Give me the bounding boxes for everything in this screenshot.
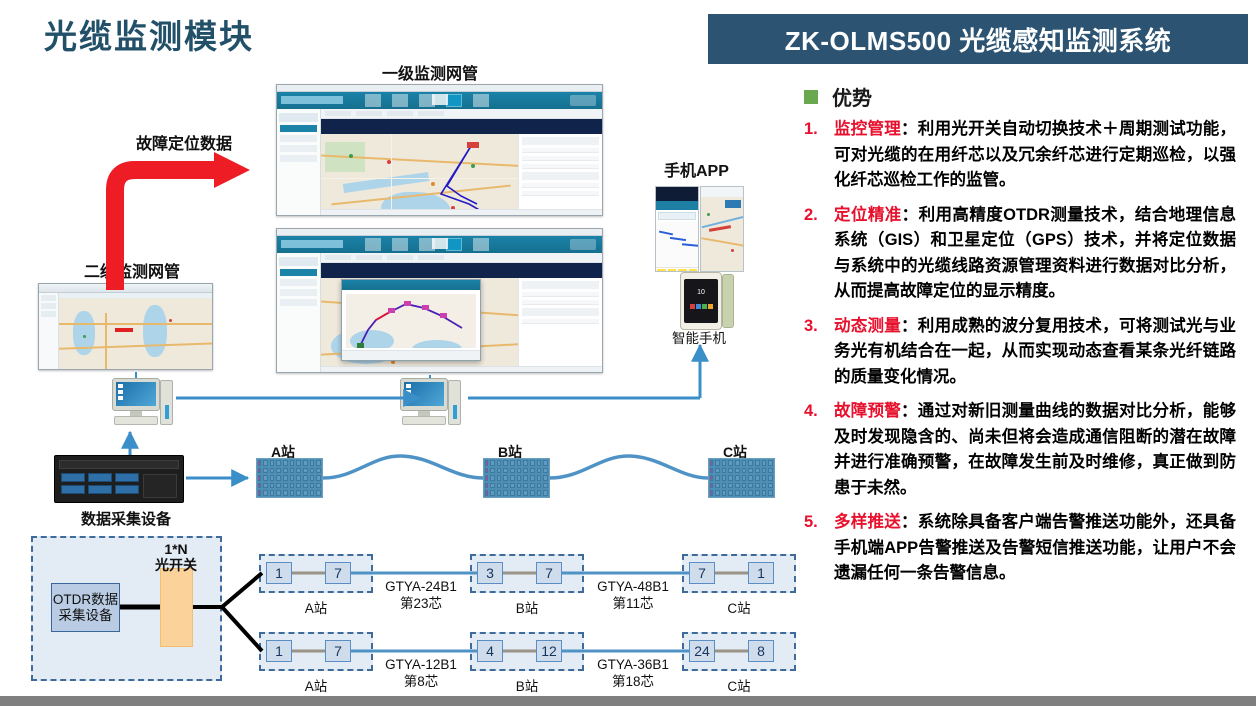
- collector-module: [88, 485, 112, 494]
- list-item-text: 监控管理：利用光开关自动切换技术＋周期测试功能，可对光缆的在用纤芯以及冗余纤芯进…: [834, 117, 1236, 194]
- phone-clock: 10: [684, 289, 718, 296]
- odf-row: [709, 474, 774, 482]
- dialog-title-bar[interactable]: [342, 280, 480, 290]
- desktop-icon: [118, 390, 123, 394]
- odf-row: [709, 489, 774, 497]
- app-nav-icons[interactable]: [365, 94, 489, 107]
- station-label: C站: [714, 675, 764, 695]
- app-topbar: [277, 92, 602, 109]
- odf-row: [484, 482, 549, 490]
- app-screenshot-header: [656, 187, 698, 201]
- optical-switch-box: [160, 568, 193, 647]
- fiber-port: 3: [477, 562, 503, 584]
- alarm-list-panel[interactable]: [518, 278, 602, 369]
- odf-rack-station-b: [483, 458, 550, 498]
- tower-led-strip: [453, 405, 457, 419]
- sidebar-item[interactable]: [280, 155, 317, 162]
- pc-tower: [448, 380, 461, 425]
- curve-segment: [682, 243, 698, 246]
- odf-rack-station-c: [708, 458, 775, 498]
- alarm-panel-header: [522, 137, 599, 145]
- dialog-route-overlay: [346, 294, 476, 348]
- label-data-collector: 数据采集设备: [81, 508, 171, 529]
- smartphone-device: 10: [680, 272, 722, 330]
- cable-core: 第18芯: [612, 674, 654, 689]
- cable-model: GTYA-24B1: [385, 579, 457, 594]
- desktop-icon: [118, 396, 123, 400]
- user-menu[interactable]: [570, 95, 596, 106]
- level2-sidebar[interactable]: [39, 293, 59, 369]
- odf-row: [257, 474, 322, 482]
- list-item-number: 5.: [804, 510, 834, 587]
- sidebar-item[interactable]: [280, 279, 317, 286]
- tab[interactable]: [325, 255, 351, 260]
- switch-label-line2: 光开关: [155, 557, 197, 573]
- cable-label-row1-seg2: GTYA-48B1 第11芯: [583, 578, 683, 612]
- level2-map[interactable]: [59, 293, 212, 369]
- list-item-keyword: 故障预警: [834, 402, 901, 420]
- map-fault-highlight: [709, 225, 731, 232]
- tab[interactable]: [387, 255, 413, 260]
- alarm-row[interactable]: [522, 183, 599, 188]
- alarm-row[interactable]: [522, 300, 599, 305]
- app-main: [321, 109, 602, 215]
- alarm-panel-subheader: [522, 308, 599, 316]
- station-label: B站: [502, 597, 552, 617]
- station-label: C站: [714, 597, 764, 617]
- list-item-text: 动态测量：利用成熟的波分复用技术，可将测试光与业务光有机结合在一起，从而实现动态…: [834, 314, 1236, 391]
- list-item-keyword: 多样推送: [834, 513, 901, 531]
- cable-core: 第11芯: [612, 596, 653, 611]
- alarm-panel-header: [522, 281, 599, 289]
- monitor-screen: [116, 382, 156, 406]
- tab[interactable]: [418, 255, 444, 260]
- keyboard: [402, 416, 446, 425]
- otdr-collector-label: OTDR数据 采集设备: [53, 592, 118, 624]
- odf-rack-station-a: [256, 458, 323, 498]
- list-item-keyword: 动态测量: [834, 317, 901, 335]
- smartphone-device-side: [722, 274, 734, 328]
- user-menu[interactable]: [570, 239, 596, 250]
- level2-nms-window[interactable]: [38, 283, 213, 370]
- desktop-icon: [406, 390, 411, 394]
- list-item-text: 故障预警：通过对新旧测量曲线的数据对比分析，能够及时发现隐含的、尚未但将会造成通…: [834, 399, 1236, 501]
- fiber-cable-a-b: [323, 456, 483, 478]
- app-tabs[interactable]: [321, 253, 602, 263]
- fiber-port: 1: [748, 562, 774, 584]
- status-bar: [321, 366, 602, 372]
- map-toggle-icon[interactable]: [432, 94, 448, 105]
- cable-core: 第8芯: [404, 674, 439, 689]
- alarm-row[interactable]: [522, 148, 599, 153]
- panel-title-bar: [321, 119, 602, 134]
- app-screenshot-statusbar: [701, 187, 743, 197]
- browser-toolbar[interactable]: [39, 284, 212, 293]
- otdr-label-line2: 采集设备: [59, 608, 113, 623]
- list-item-number: 4.: [804, 399, 834, 501]
- nav-icon-5[interactable]: [473, 238, 489, 251]
- cable-core: 第23芯: [400, 596, 442, 611]
- sidebar-item[interactable]: [41, 311, 56, 317]
- level1-workstation: [400, 378, 462, 430]
- dialog-map[interactable]: [346, 294, 476, 348]
- fiber-port: 7: [325, 640, 351, 662]
- fiber-port: 12: [536, 640, 562, 662]
- cable-model: GTYA-48B1: [597, 579, 669, 594]
- list-item: 4. 故障预警：通过对新旧测量曲线的数据对比分析，能够及时发现隐含的、尚未但将会…: [804, 399, 1240, 501]
- app-topbar: [277, 236, 602, 253]
- map-road: [59, 323, 212, 325]
- odf-row: [484, 459, 549, 467]
- cable-model: GTYA-36B1: [597, 657, 669, 672]
- sidebar-item-active[interactable]: [280, 125, 317, 132]
- keyboard: [114, 416, 158, 425]
- odf-row: [257, 467, 322, 475]
- nav-icon-2[interactable]: [392, 238, 408, 251]
- list-item-number: 3.: [804, 314, 834, 391]
- tab[interactable]: [356, 255, 382, 260]
- label-level1-nms: 一级监测网管: [382, 60, 478, 84]
- tab[interactable]: [418, 111, 444, 116]
- alarm-row[interactable]: [522, 191, 599, 196]
- app-icon: [708, 304, 713, 309]
- app-screenshot-search: [658, 212, 696, 220]
- bottom-bar: [0, 696, 1256, 706]
- list-item: 3. 动态测量：利用成熟的波分复用技术，可将测试光与业务光有机结合在一起，从而实…: [804, 314, 1240, 391]
- cable-label-row2-seg1: GTYA-12B1 第8芯: [371, 656, 471, 690]
- fiber-port: 7: [689, 562, 715, 584]
- map-fault-highlight: [115, 328, 133, 332]
- app-icon: [696, 304, 701, 309]
- odf-row: [709, 467, 774, 475]
- otdr-collector-box: OTDR数据 采集设备: [51, 583, 120, 632]
- monitor-screen: [404, 382, 444, 406]
- alarm-panel-subheader: [522, 172, 599, 180]
- tab[interactable]: [325, 111, 351, 116]
- label-mobile-app: 手机APP: [664, 157, 729, 181]
- otdr-label-line1: OTDR数据: [53, 592, 118, 607]
- label-smart-phone: 智能手机: [672, 327, 726, 347]
- alarm-row[interactable]: [522, 292, 599, 297]
- label-fault-location-data: 故障定位数据: [136, 130, 232, 154]
- advantages-heading: 优势: [804, 82, 1248, 111]
- advantages-list: 1. 监控管理：利用光开关自动切换技术＋周期测试功能，可对光缆的在用纤芯以及冗余…: [804, 117, 1240, 587]
- browser-chrome: [277, 85, 602, 92]
- page-title: 光缆监测模块: [44, 10, 254, 58]
- odf-row: [709, 482, 774, 490]
- alarm-row[interactable]: [522, 319, 599, 324]
- list-item-keyword: 定位精准: [834, 206, 902, 224]
- switch-label-line1: 1*N: [164, 541, 187, 557]
- browser-chrome: [277, 229, 602, 236]
- list-item-text: 多样推送：系统除具备客户端告警推送功能外，还具备手机端APP告警推送及告警短信推…: [834, 510, 1236, 587]
- curve-segment: [659, 231, 673, 236]
- collector-module: [115, 473, 139, 482]
- fault-detail-dialog[interactable]: [341, 279, 481, 361]
- desktop-icon: [406, 384, 411, 388]
- alarm-list-panel[interactable]: [518, 134, 602, 212]
- map-lake: [143, 305, 167, 357]
- level2-body: [39, 293, 212, 369]
- link-switch-branch-row1: [222, 573, 262, 607]
- map-legend-badge: [725, 200, 741, 208]
- odf-row: [257, 482, 322, 490]
- collector-modules: [61, 473, 141, 494]
- map-marker[interactable]: [83, 335, 86, 338]
- tab[interactable]: [356, 111, 382, 116]
- collector-module: [61, 473, 85, 482]
- desktop-icon: [118, 384, 123, 388]
- fiber-port: 1: [266, 562, 292, 584]
- nav-icon-4-selected[interactable]: [446, 238, 462, 251]
- slide-canvas: 光缆监测模块 ZK-OLMS500 光缆感知监测系统 优势 1. 监控管理：利用…: [0, 0, 1256, 706]
- list-item-number: 2.: [804, 203, 834, 305]
- desktop-icon: [406, 396, 411, 400]
- optical-switch-label: 1*N 光开关: [146, 541, 206, 573]
- list-item-keyword: 监控管理: [834, 120, 901, 138]
- collector-module: [115, 485, 139, 494]
- advantages-heading-label: 优势: [832, 82, 872, 111]
- sidebar-item-active[interactable]: [280, 269, 317, 276]
- fault-data-arrow-head: [214, 152, 250, 188]
- app-sidebar[interactable]: [277, 109, 321, 215]
- level1-nms-window[interactable]: [276, 84, 603, 216]
- cable-model: GTYA-12B1: [385, 657, 457, 672]
- data-collector-device: [54, 455, 184, 503]
- gis-map[interactable]: [321, 134, 518, 212]
- odf-row: [709, 459, 774, 467]
- level2-workstation: [112, 378, 174, 430]
- fiber-port: 8: [748, 640, 774, 662]
- tower-led-strip: [165, 405, 169, 419]
- station-label: B站: [502, 675, 552, 695]
- alarm-row[interactable]: [522, 164, 599, 169]
- app-icon: [702, 304, 707, 309]
- level1-nms-window-detail[interactable]: [276, 228, 603, 373]
- sidebar-item[interactable]: [41, 303, 56, 309]
- odf-row: [484, 489, 549, 497]
- station-label: A站: [291, 675, 341, 695]
- fiber-port: 7: [325, 562, 351, 584]
- fiber-port: 7: [536, 562, 562, 584]
- monitor-bezel: [400, 378, 448, 411]
- app-screenshot-map: [700, 186, 744, 272]
- collector-top-panel: [59, 460, 179, 469]
- odf-row: [257, 489, 322, 497]
- nav-icon-1[interactable]: [365, 94, 381, 107]
- collector-vent: [143, 474, 177, 498]
- phone-app-grid: [684, 304, 718, 309]
- map-route-overlay: [321, 134, 518, 212]
- app-logo: [281, 240, 343, 248]
- map-marker-alarm: [731, 249, 734, 252]
- map-marker: [707, 213, 710, 216]
- map-toggle-icon[interactable]: [432, 238, 448, 249]
- pc-tower: [160, 380, 173, 425]
- fiber-cable-b-c: [550, 456, 708, 478]
- cable-label-row1-seg1: GTYA-24B1 第23芯: [371, 578, 471, 612]
- monitor-bezel: [112, 378, 160, 411]
- sidebar-item[interactable]: [280, 299, 317, 306]
- app-map-view: [701, 197, 743, 272]
- sidebar-item[interactable]: [280, 135, 317, 142]
- odf-row: [484, 474, 549, 482]
- app-screenshot-tabs: [656, 201, 698, 210]
- alarm-row[interactable]: [522, 156, 599, 161]
- cable-label-row2-seg2: GTYA-36B1 第18芯: [583, 656, 683, 690]
- app-body: [277, 109, 602, 215]
- map-marker-alarm[interactable]: [169, 319, 172, 322]
- sidebar-item[interactable]: [280, 289, 317, 296]
- label-level2-nms: 二级监测网管: [84, 258, 180, 282]
- app-logo: [281, 96, 343, 104]
- map-road: [701, 237, 743, 246]
- station-label: A站: [291, 597, 341, 617]
- fiber-port: 24: [689, 640, 715, 662]
- level2-map-toolbar[interactable]: [59, 293, 212, 298]
- nav-icon-1[interactable]: [365, 238, 381, 251]
- app-nav-icons[interactable]: [365, 238, 489, 251]
- system-name-banner: ZK-OLMS500 光缆感知监测系统: [708, 14, 1248, 64]
- list-item: 1. 监控管理：利用光开关自动切换技术＋周期测试功能，可对光缆的在用纤芯以及冗余…: [804, 117, 1240, 194]
- collector-module: [61, 485, 85, 494]
- list-item-text: 定位精准：利用高精度OTDR测量技术，结合地理信息系统（GIS）和卫星定位（GP…: [834, 203, 1236, 305]
- otdr-curve-chart: [656, 222, 698, 268]
- nav-icon-2[interactable]: [392, 94, 408, 107]
- app-screenshot-otdr-curve: [655, 186, 699, 272]
- odf-row: [257, 459, 322, 467]
- panel-title-bar: [321, 263, 602, 278]
- dialog-footer: [342, 350, 480, 360]
- fiber-port: 4: [477, 640, 503, 662]
- app-sidebar[interactable]: [277, 253, 321, 372]
- sidebar-search[interactable]: [279, 257, 318, 266]
- odf-row: [484, 467, 549, 475]
- map-road: [105, 313, 107, 369]
- sidebar-search[interactable]: [279, 113, 318, 122]
- fiber-port: 1: [266, 640, 292, 662]
- nav-icon-5[interactable]: [473, 94, 489, 107]
- collector-module: [88, 473, 112, 482]
- curve-segment: [670, 237, 686, 241]
- list-item: 5. 多样推送：系统除具备客户端告警推送功能外，还具备手机端APP告警推送及告警…: [804, 510, 1240, 587]
- tab[interactable]: [387, 111, 413, 116]
- square-bullet-icon: [804, 90, 818, 104]
- list-item: 2. 定位精准：利用高精度OTDR测量技术，结合地理信息系统（GIS）和卫星定位…: [804, 203, 1240, 305]
- sidebar-item[interactable]: [41, 295, 56, 301]
- status-bar: [321, 209, 602, 215]
- phone-screen: 10: [684, 279, 718, 323]
- system-name-text: ZK-OLMS500 光缆感知监测系统: [785, 21, 1172, 58]
- nav-icon-4-selected[interactable]: [446, 94, 462, 107]
- app-icon: [690, 304, 695, 309]
- app-tabs[interactable]: [321, 109, 602, 119]
- list-item-number: 1.: [804, 117, 834, 194]
- sidebar-item[interactable]: [280, 145, 317, 152]
- link-switch-branch-row2: [222, 607, 262, 651]
